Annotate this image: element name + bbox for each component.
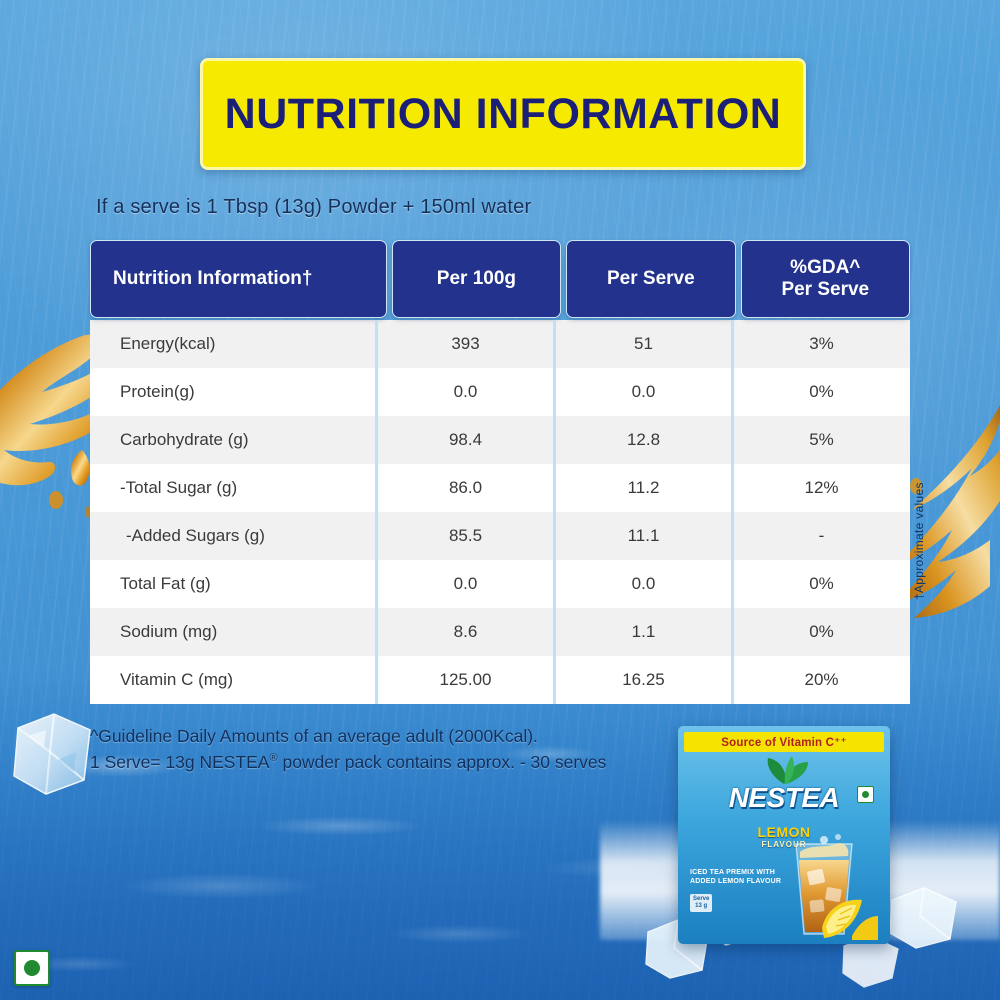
cell-per-100g: 98.4 (375, 416, 553, 464)
cell-per-100g: 0.0 (375, 368, 553, 416)
cell-per-serve: 11.1 (553, 512, 731, 560)
registered-trademark-icon: ® (269, 752, 277, 764)
column-header-nutrient: Nutrition Information† (90, 240, 387, 318)
cell-nutrient: Vitamin C (mg) (90, 656, 375, 704)
column-header-per-serve: Per Serve (566, 240, 735, 318)
packet-brand: NESTEA (678, 782, 890, 814)
cell-gda: 12% (731, 464, 909, 512)
packet-claim-text: Source of Vitamin C⁺⁺ (721, 735, 846, 749)
cell-gda: 0% (731, 608, 909, 656)
table-row: Vitamin C (mg) 125.00 16.25 20% (90, 656, 910, 704)
cell-nutrient: Carbohydrate (g) (90, 416, 375, 464)
vegetarian-mark-icon (14, 950, 50, 986)
nutrition-table: Nutrition Information† Per 100g Per Serv… (90, 240, 910, 704)
cell-per-serve: 0.0 (553, 368, 731, 416)
footnote-gda: ^Guideline Daily Amounts of an average a… (90, 724, 606, 750)
cell-per-100g: 85.5 (375, 512, 553, 560)
cell-gda: - (731, 512, 909, 560)
footnote-serves: 1 Serve= 13g NESTEA® powder pack contain… (90, 750, 606, 776)
lemon-wedge-icon (818, 894, 878, 940)
packet-serve-box: Serve 13 g (690, 894, 712, 912)
table-row: Protein(g) 0.0 0.0 0% (90, 368, 910, 416)
table-row: -Added Sugars (g) 85.5 11.1 - (90, 512, 910, 560)
cell-nutrient: Protein(g) (90, 368, 375, 416)
column-header-gda-line2: Per Serve (781, 279, 869, 301)
cell-per-serve: 51 (553, 320, 731, 368)
table-row: Sodium (mg) 8.6 1.1 0% (90, 608, 910, 656)
ice-cube-icon (6, 708, 98, 800)
cell-nutrient: -Total Sugar (g) (90, 464, 375, 512)
column-header-per-100g: Per 100g (392, 240, 561, 318)
cell-per-serve: 12.8 (553, 416, 731, 464)
cell-per-serve: 0.0 (553, 560, 731, 608)
packet-claim-strip: Source of Vitamin C⁺⁺ (684, 732, 884, 752)
table-row: Energy(kcal) 393 51 3% (90, 320, 910, 368)
cell-nutrient: -Added Sugars (g) (90, 512, 375, 560)
footnote-serves-pre: 1 Serve= 13g NESTEA (90, 752, 269, 772)
approximate-values-note: †Approximate values (912, 482, 926, 600)
cell-per-100g: 125.00 (375, 656, 553, 704)
cell-per-100g: 86.0 (375, 464, 553, 512)
cell-gda: 5% (731, 416, 909, 464)
cell-per-100g: 0.0 (375, 560, 553, 608)
cell-per-serve: 16.25 (553, 656, 731, 704)
footnotes: ^Guideline Daily Amounts of an average a… (90, 724, 606, 776)
serve-definition-text: If a serve is 1 Tbsp (13g) Powder + 150m… (96, 196, 531, 219)
page-title: NUTRITION INFORMATION (225, 90, 782, 139)
column-header-gda-per-serve: %GDA^ Per Serve (741, 240, 910, 318)
cell-nutrient: Total Fat (g) (90, 560, 375, 608)
cell-gda: 0% (731, 368, 909, 416)
table-row: Carbohydrate (g) 98.4 12.8 5% (90, 416, 910, 464)
table-row: Total Fat (g) 0.0 0.0 0% (90, 560, 910, 608)
packet-brand-text: NESTEA (729, 782, 840, 813)
table-body: Energy(kcal) 393 51 3% Protein(g) 0.0 0.… (90, 320, 910, 704)
cell-per-serve: 1.1 (553, 608, 731, 656)
packet-serve-value: 13 g (693, 903, 709, 910)
cell-gda: 20% (731, 656, 909, 704)
cell-gda: 3% (731, 320, 909, 368)
column-header-gda-line1: %GDA^ (781, 257, 869, 279)
cell-gda: 0% (731, 560, 909, 608)
page-title-banner: NUTRITION INFORMATION (200, 58, 806, 170)
packet-serve-label: Serve (693, 896, 709, 903)
footnote-serves-post: powder pack contains approx. - 30 serves (278, 752, 607, 772)
cell-per-100g: 393 (375, 320, 553, 368)
product-packet-image: Source of Vitamin C⁺⁺ NESTEA LEMON FLAVO… (678, 726, 890, 944)
table-header-row: Nutrition Information† Per 100g Per Serv… (90, 240, 910, 318)
vegetarian-dot-icon (24, 960, 40, 976)
cell-nutrient: Sodium (mg) (90, 608, 375, 656)
table-row: -Total Sugar (g) 86.0 11.2 12% (90, 464, 910, 512)
cell-nutrient: Energy(kcal) (90, 320, 375, 368)
cell-per-100g: 8.6 (375, 608, 553, 656)
packet-serve-info: Serve 13 g (690, 894, 712, 912)
cell-per-serve: 11.2 (553, 464, 731, 512)
